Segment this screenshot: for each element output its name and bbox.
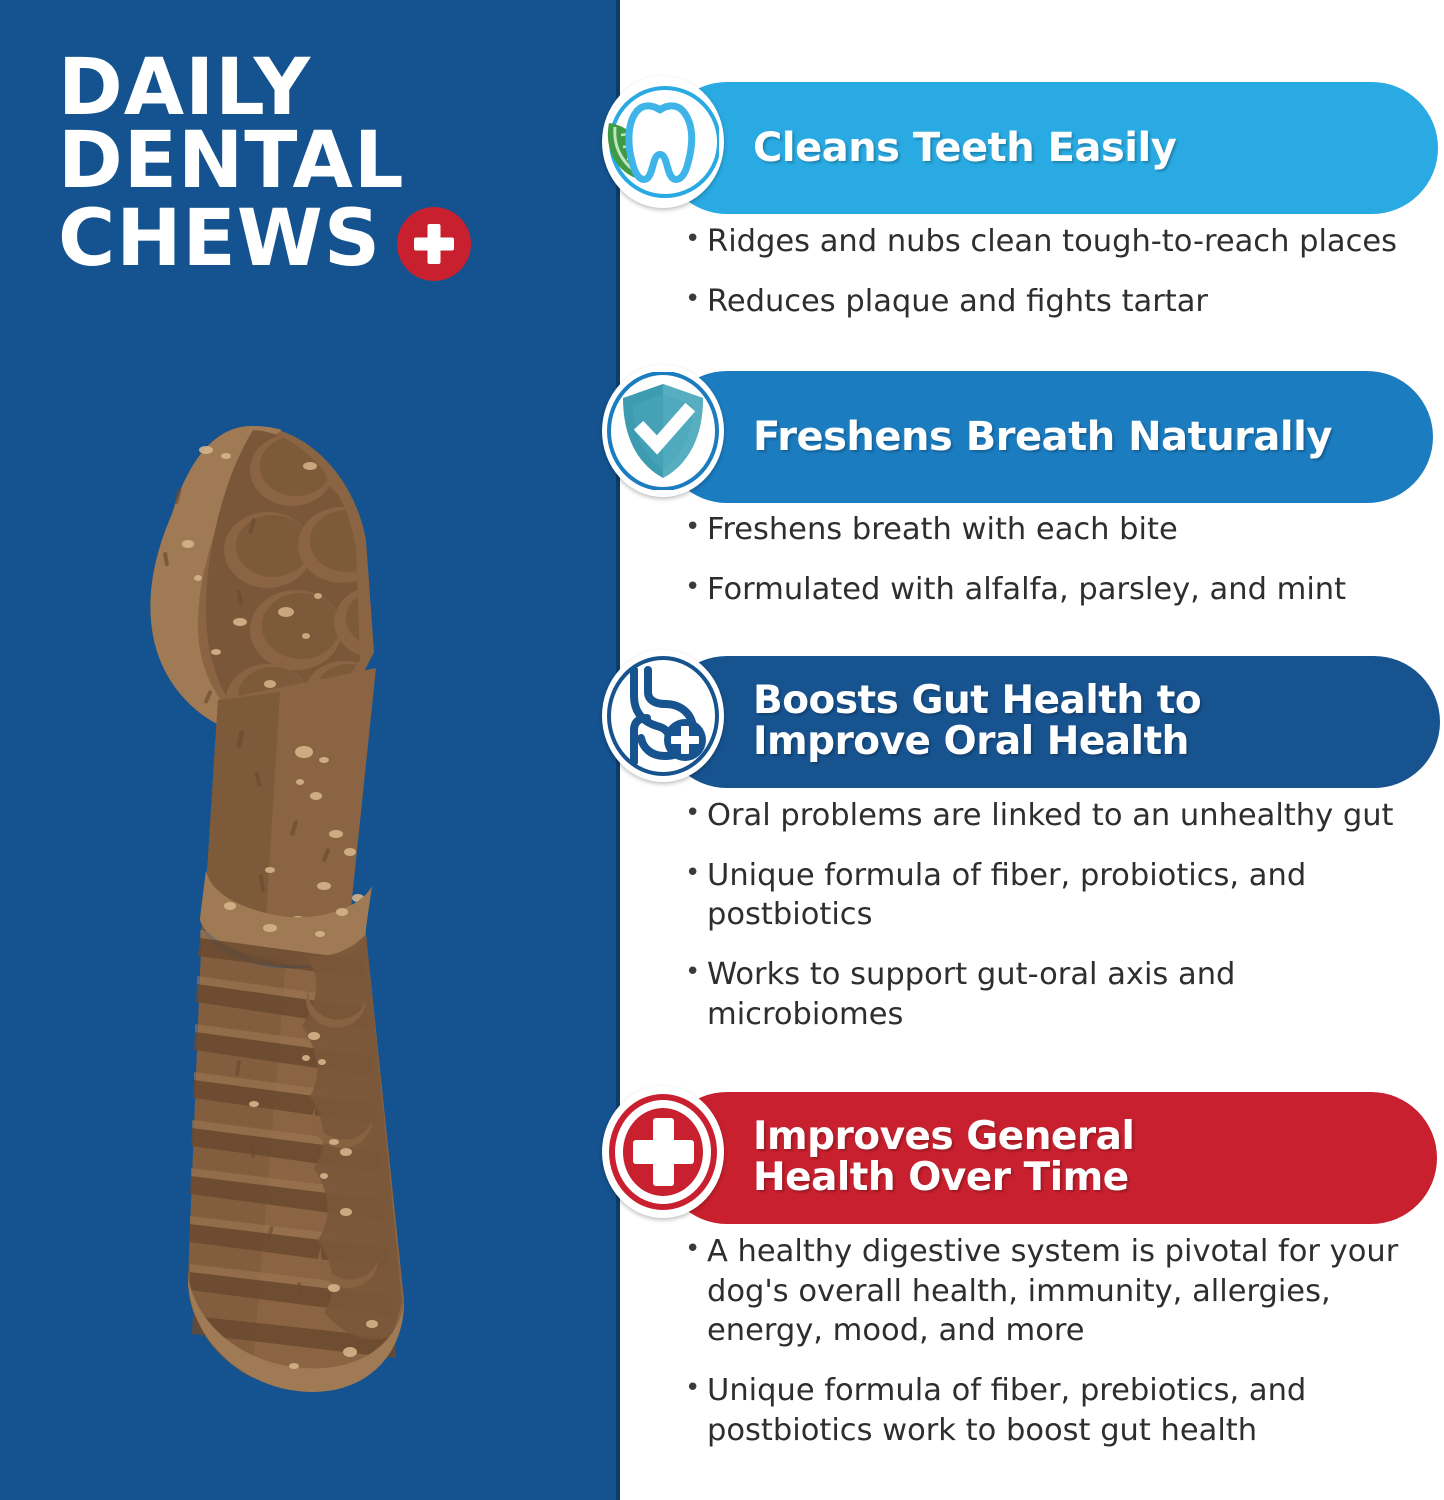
bullet-text: A healthy digestive system is pivotal fo… xyxy=(707,1232,1405,1351)
bullet-marker: • xyxy=(685,1232,707,1351)
shield-check-icon xyxy=(602,365,724,497)
feature-2-title: Freshens Breath Naturally xyxy=(661,416,1362,458)
feature-4-bullets: • A healthy digestive system is pivotal … xyxy=(685,1232,1444,1470)
list-item: • Ridges and nubs clean tough-to-reach p… xyxy=(685,222,1444,262)
chew-ribbed-body xyxy=(188,924,404,1392)
bullet-marker: • xyxy=(685,282,707,322)
title-line-3-row: CHEWS xyxy=(58,199,578,281)
bullet-text: Freshens breath with each bite xyxy=(707,510,1444,550)
bullet-text: Ridges and nubs clean tough-to-reach pla… xyxy=(707,222,1444,262)
title-line-3: CHEWS xyxy=(58,203,381,276)
feature-1-title: Cleans Teeth Easily xyxy=(661,127,1206,169)
list-item: • Works to support gut-oral axis and mic… xyxy=(685,955,1325,1034)
list-item: • Formulated with alfalfa, parsley, and … xyxy=(685,570,1444,610)
feature-3-title: Boosts Gut Health to Improve Oral Health xyxy=(661,681,1231,762)
feature-1-bullets: • Ridges and nubs clean tough-to-reach p… xyxy=(685,222,1444,341)
bullet-marker: • xyxy=(685,955,707,1034)
title-line-2: DENTAL xyxy=(58,125,578,198)
bullet-text: Unique formula of fiber, prebiotics, and… xyxy=(707,1371,1405,1450)
bullet-text: Formulated with alfalfa, parsley, and mi… xyxy=(707,570,1444,610)
infographic-page: DAILY DENTAL CHEWS xyxy=(0,0,1444,1500)
feature-2-bullets: • Freshens breath with each bite • Formu… xyxy=(685,510,1444,629)
bullet-marker: • xyxy=(685,222,707,262)
feature-4-pill: Improves General Health Over Time xyxy=(661,1092,1437,1224)
feature-4-title: Improves General Health Over Time xyxy=(661,1117,1164,1198)
bullet-text: Unique formula of fiber, probiotics, and… xyxy=(707,856,1385,935)
feature-3-bullets: • Oral problems are linked to an unhealt… xyxy=(685,796,1444,1054)
list-item: • Oral problems are linked to an unhealt… xyxy=(685,796,1444,836)
tooth-mint-icon xyxy=(602,76,724,208)
list-item: • A healthy digestive system is pivotal … xyxy=(685,1232,1405,1351)
list-item: • Unique formula of fiber, probiotics, a… xyxy=(685,856,1385,935)
stomach-plus-icon xyxy=(602,650,724,782)
list-item: • Unique formula of fiber, prebiotics, a… xyxy=(685,1371,1405,1450)
dog-dental-chew-illustration xyxy=(110,400,510,1430)
bullet-marker: • xyxy=(685,1371,707,1450)
page-title: DAILY DENTAL CHEWS xyxy=(58,52,578,281)
medical-cross-circle-icon xyxy=(602,1086,724,1218)
list-item: • Reduces plaque and fights tartar xyxy=(685,282,1444,322)
bullet-marker: • xyxy=(685,570,707,610)
bullet-text: Reduces plaque and fights tartar xyxy=(707,282,1444,322)
bullet-text: Oral problems are linked to an unhealthy… xyxy=(707,796,1444,836)
feature-1-pill: Cleans Teeth Easily xyxy=(661,82,1438,214)
bullet-marker: • xyxy=(685,856,707,935)
feature-3-pill: Boosts Gut Health to Improve Oral Health xyxy=(661,656,1440,788)
bullet-text: Works to support gut-oral axis and micro… xyxy=(707,955,1325,1034)
title-line-1: DAILY xyxy=(58,52,578,125)
features-column: Cleans Teeth Easily • Ridges and nubs cl… xyxy=(617,0,1444,1500)
list-item: • Freshens breath with each bite xyxy=(685,510,1444,550)
feature-2-pill: Freshens Breath Naturally xyxy=(661,371,1433,503)
medical-cross-icon xyxy=(397,207,471,281)
bullet-marker: • xyxy=(685,796,707,836)
bullet-marker: • xyxy=(685,510,707,550)
